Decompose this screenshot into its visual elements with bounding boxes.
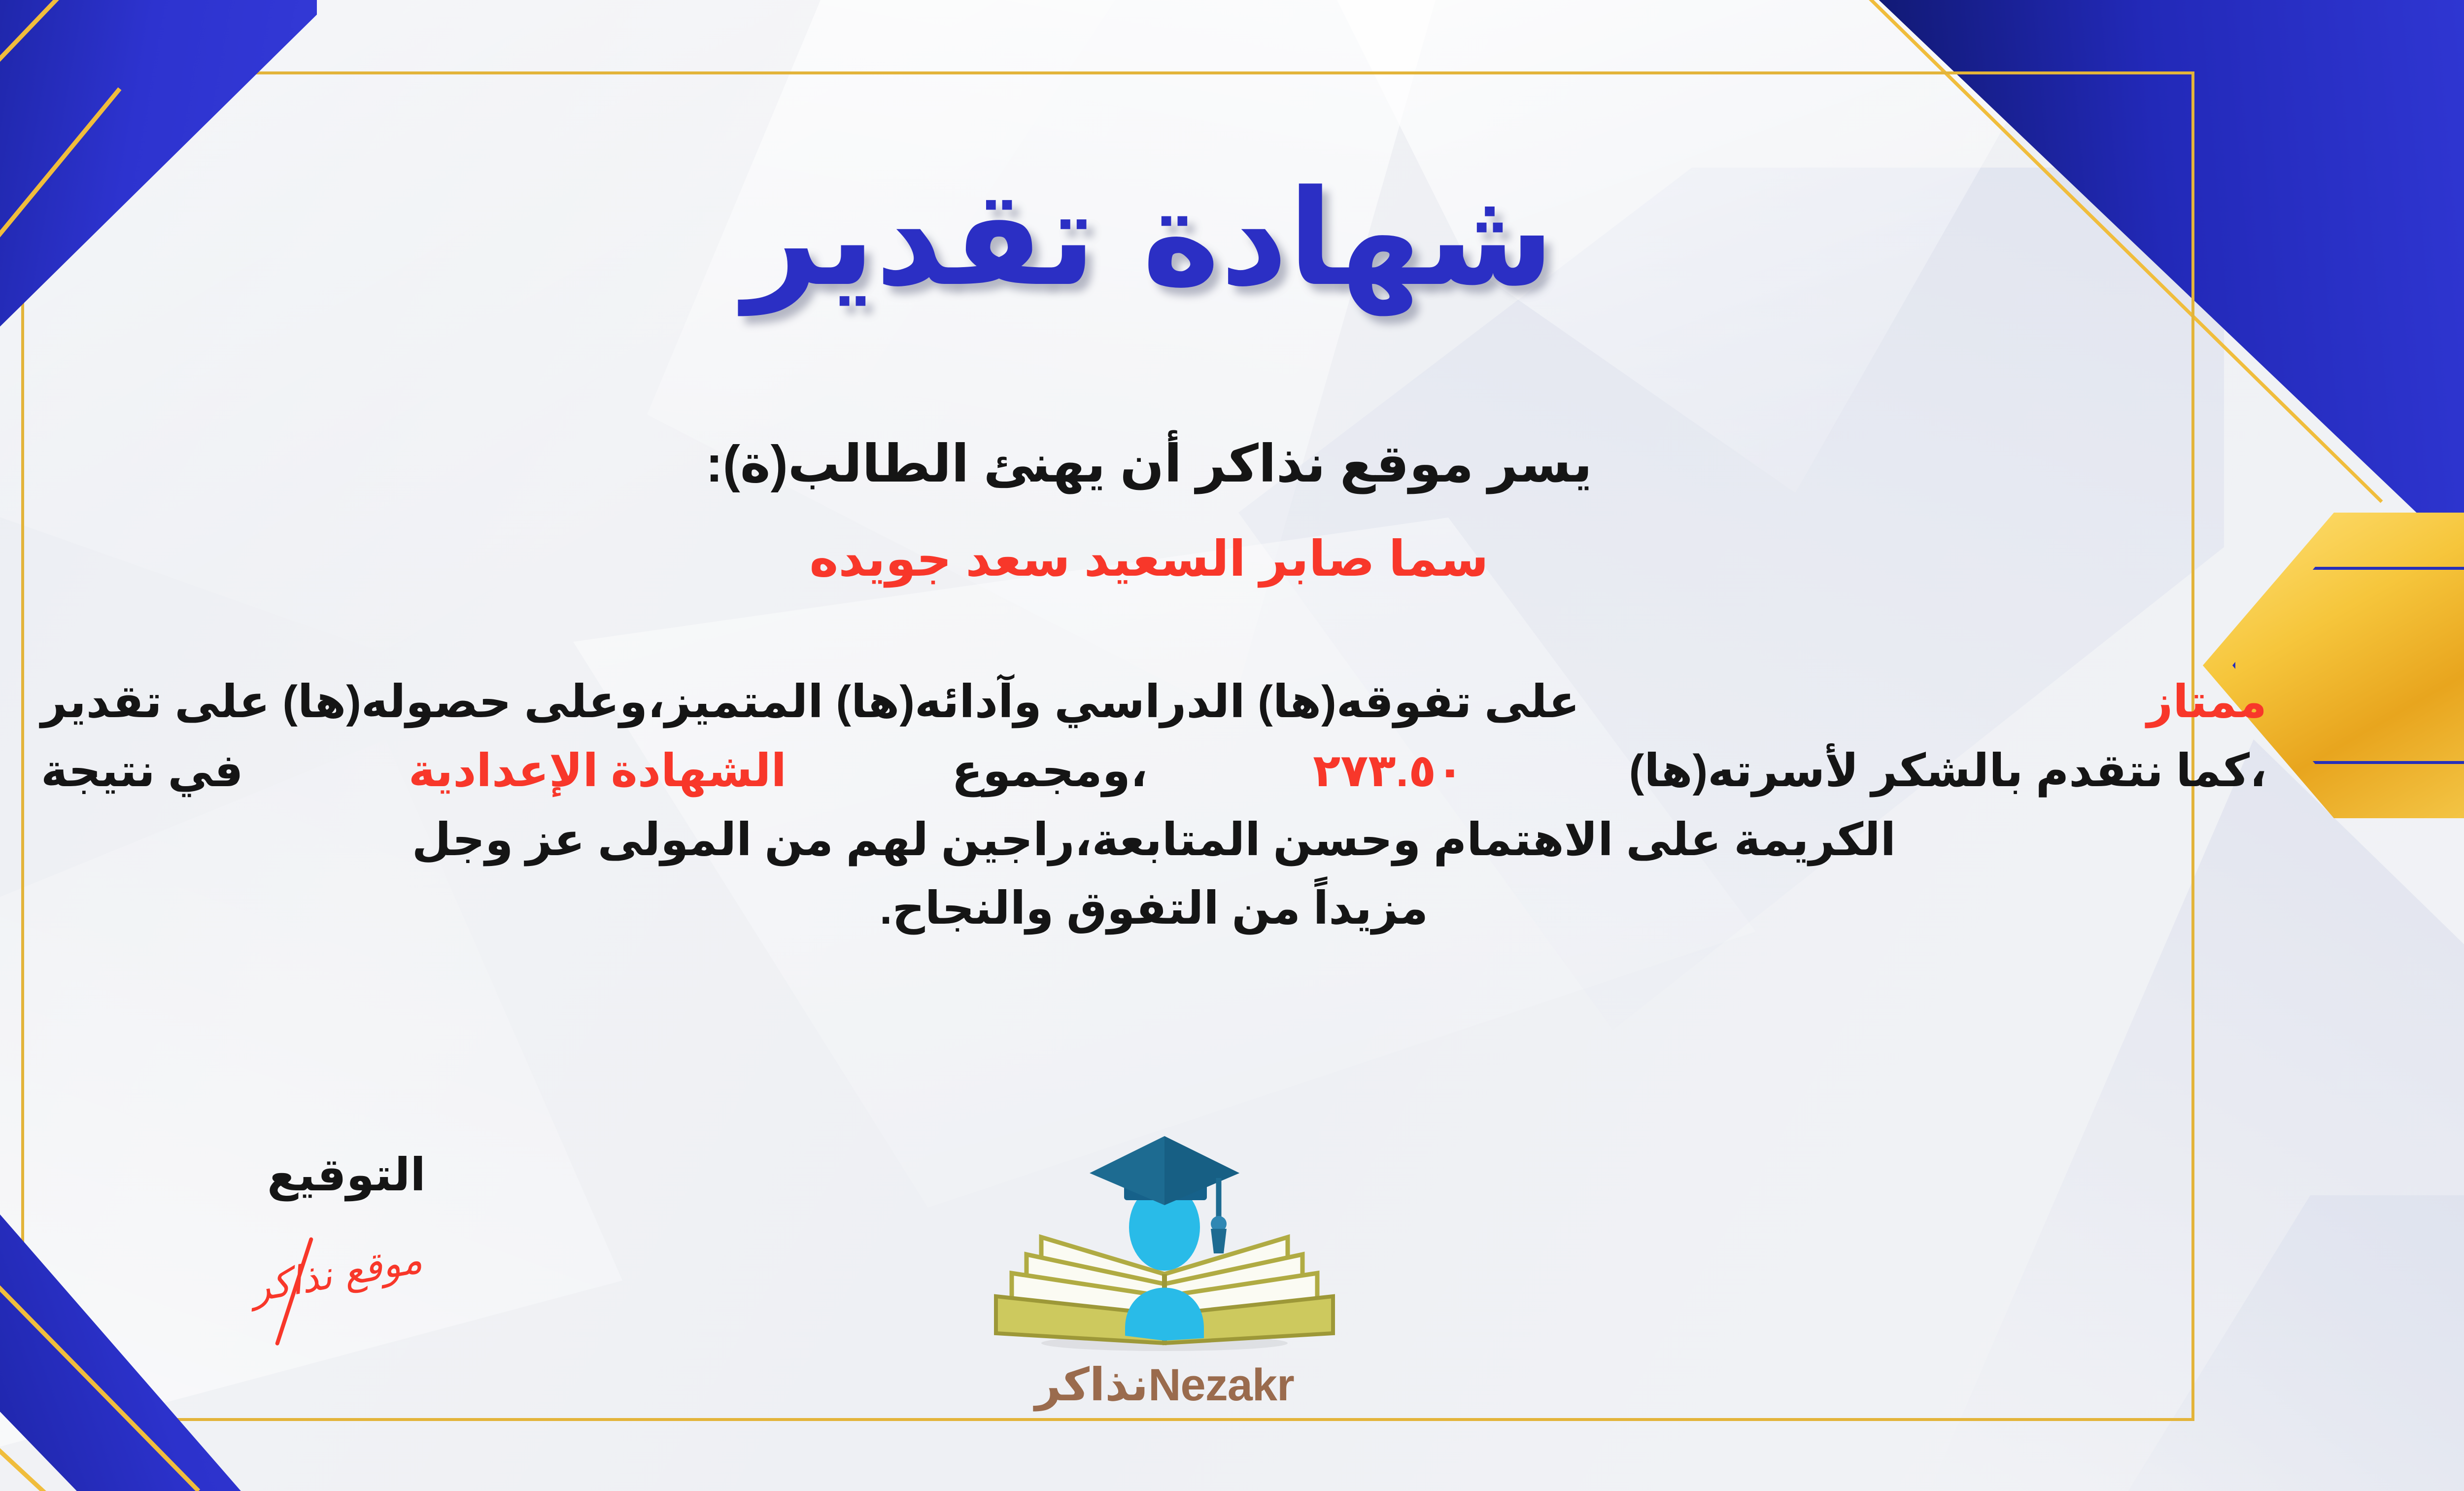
body-line-2-mid: ،ومجموع bbox=[952, 737, 1148, 806]
body-line-2-start: في نتيجة bbox=[41, 737, 243, 806]
total-score-value: ٢٧٣.٥٠ bbox=[1313, 737, 1464, 806]
logo-wordmark: Nezakrنذاكر bbox=[967, 1358, 1362, 1411]
body-line-2-end: ،كما نتقدم بالشكر لأسرته(ها) bbox=[1629, 737, 2267, 806]
signature-label: التوقيع bbox=[208, 1148, 484, 1201]
certificate-content: شهادة تقدير يسر موقع نذاكر أن يهنئ الطال… bbox=[0, 0, 2464, 1491]
body-line-2: ،كما نتقدم بالشكر لأسرته(ها) ٢٧٣.٥٠ ،ومج… bbox=[41, 737, 2267, 806]
student-name: سما صابر السعيد سعد جويده bbox=[0, 530, 2464, 588]
body-line-4: مزيداً من التفوق والنجاح. bbox=[41, 874, 2267, 943]
exam-name-value: الشهادة الإعدادية bbox=[409, 737, 787, 806]
certificate-title: شهادة تقدير bbox=[0, 163, 2464, 314]
logo-text-latin: Nezakr bbox=[1148, 1360, 1294, 1410]
grade-value: ممتاز bbox=[2147, 668, 2267, 737]
greeting-text: يسر موقع نذاكر أن يهنئ الطالب(ة): bbox=[0, 434, 2464, 494]
certificate-body: ممتاز على تفوقه(ها) الدراسي وآدائه(ها) ا… bbox=[41, 668, 2267, 943]
body-line-3: الكريمة على الاهتمام وحسن المتابعة،راجين… bbox=[41, 806, 2267, 875]
body-line-1: ممتاز على تفوقه(ها) الدراسي وآدائه(ها) ا… bbox=[41, 668, 2267, 737]
logo-text-arabic: نذاكر bbox=[1035, 1360, 1148, 1410]
nezakr-logo: Nezakrنذاكر bbox=[967, 1131, 1362, 1407]
signature-script: موقع نذاكر bbox=[197, 1228, 476, 1320]
certificate-page: شهادة تقدير يسر موقع نذاكر أن يهنئ الطال… bbox=[0, 0, 2464, 1491]
cap-tassel bbox=[1211, 1229, 1227, 1253]
body-line-1-text: على تفوقه(ها) الدراسي وآدائه(ها) المتميز… bbox=[41, 668, 1579, 737]
